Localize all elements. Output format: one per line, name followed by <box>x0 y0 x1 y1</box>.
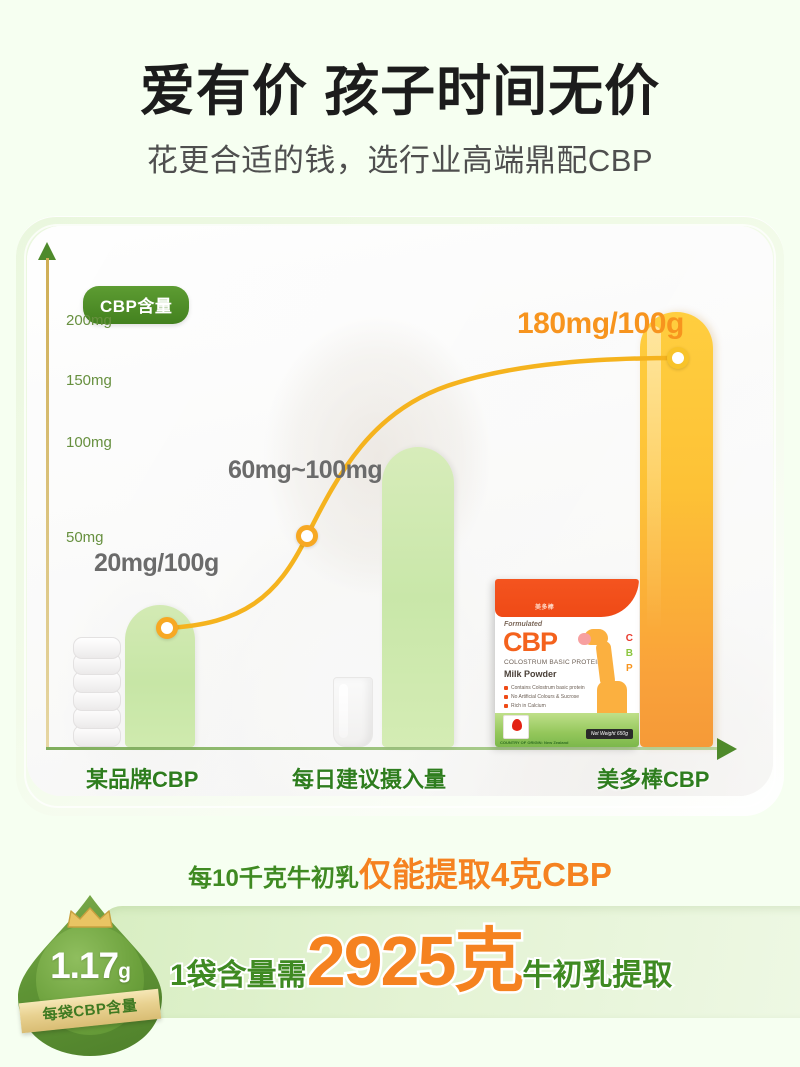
data-label-2: 60mg~100mg <box>228 456 382 485</box>
x-axis-label-3: 美多棒CBP <box>597 762 709 794</box>
package-droplet-seal-icon <box>503 715 529 739</box>
y-axis <box>46 258 49 748</box>
tablet-stack-icon <box>73 637 121 747</box>
package-letter: P <box>626 661 633 676</box>
product-package: 美多棒 Formulated CBP COLOSTRUM BASIC PROTE… <box>495 579 639 747</box>
package-name: CBP <box>503 629 557 656</box>
mid-strip-orange-text: 仅能提取4克CBP <box>359 856 612 893</box>
x-axis <box>46 747 720 750</box>
package-top-band <box>495 579 639 617</box>
data-point-marker-1 <box>156 617 178 639</box>
y-tick-label: 200mg <box>66 312 112 329</box>
crown-icon <box>66 907 114 929</box>
banner-prefix: 1袋含量需 <box>170 950 307 994</box>
y-tick-label: 50mg <box>66 529 104 546</box>
package-net-weight: Net Weight 650g <box>586 729 633 739</box>
mid-strip-green-text: 每10千克牛初乳 <box>188 865 359 892</box>
package-bullet: Contains Colostrum basic protein <box>504 685 585 691</box>
package-bullets: Contains Colostrum basic protein No Arti… <box>504 685 585 712</box>
droplet-number: 1.17 <box>50 945 118 986</box>
data-point-marker-3 <box>667 347 689 369</box>
y-tick-label: 100mg <box>66 434 112 451</box>
package-letter: B <box>626 646 633 661</box>
droplet-badge: 1.17g 每袋CBP含量 <box>16 893 164 1058</box>
x-axis-label-2: 每日建议摄入量 <box>292 762 446 794</box>
package-bullet: Rich in Calcium <box>504 703 585 709</box>
page-title: 爱有价 孩子时间无价 <box>0 62 800 121</box>
mid-strip: 每10千克牛初乳仅能提取4克CBP <box>0 848 800 896</box>
package-type: Milk Powder <box>504 669 557 679</box>
milk-glass-icon <box>333 677 373 747</box>
droplet-unit: g <box>118 960 130 983</box>
x-axis-arrow-icon <box>717 738 737 760</box>
data-point-marker-2 <box>296 525 318 547</box>
data-label-3: 180mg/100g <box>517 307 684 341</box>
banner-highlight: 2925克 <box>307 930 523 993</box>
package-brand: 美多棒 <box>535 602 554 611</box>
header: 爱有价 孩子时间无价 花更合适的钱，选行业高端鼎配CBP <box>0 62 800 180</box>
droplet-value: 1.17g <box>16 945 164 987</box>
bottom-banner-text: 1袋含量需 2925克 牛初乳提取 <box>170 930 790 996</box>
package-origin: COUNTRY OF ORIGIN: New Zealand <box>500 740 568 745</box>
y-tick-label: 150mg <box>66 372 112 389</box>
package-bullet: No Artificial Colours & Sucrose <box>504 694 585 700</box>
infographic-page: 爱有价 孩子时间无价 花更合适的钱，选行业高端鼎配CBP CBP含量 200mg… <box>0 0 800 1067</box>
x-axis-label-1: 某品牌CBP <box>86 762 198 794</box>
banner-suffix: 牛初乳提取 <box>522 950 672 994</box>
bar-daily-intake <box>382 447 454 747</box>
package-side-letters: C B P <box>626 631 633 676</box>
package-letter: C <box>626 631 633 646</box>
page-subtitle: 花更合适的钱，选行业高端鼎配CBP <box>0 135 800 180</box>
data-label-1: 20mg/100g <box>94 549 219 578</box>
bar-meiduobang-cbp <box>640 312 713 747</box>
